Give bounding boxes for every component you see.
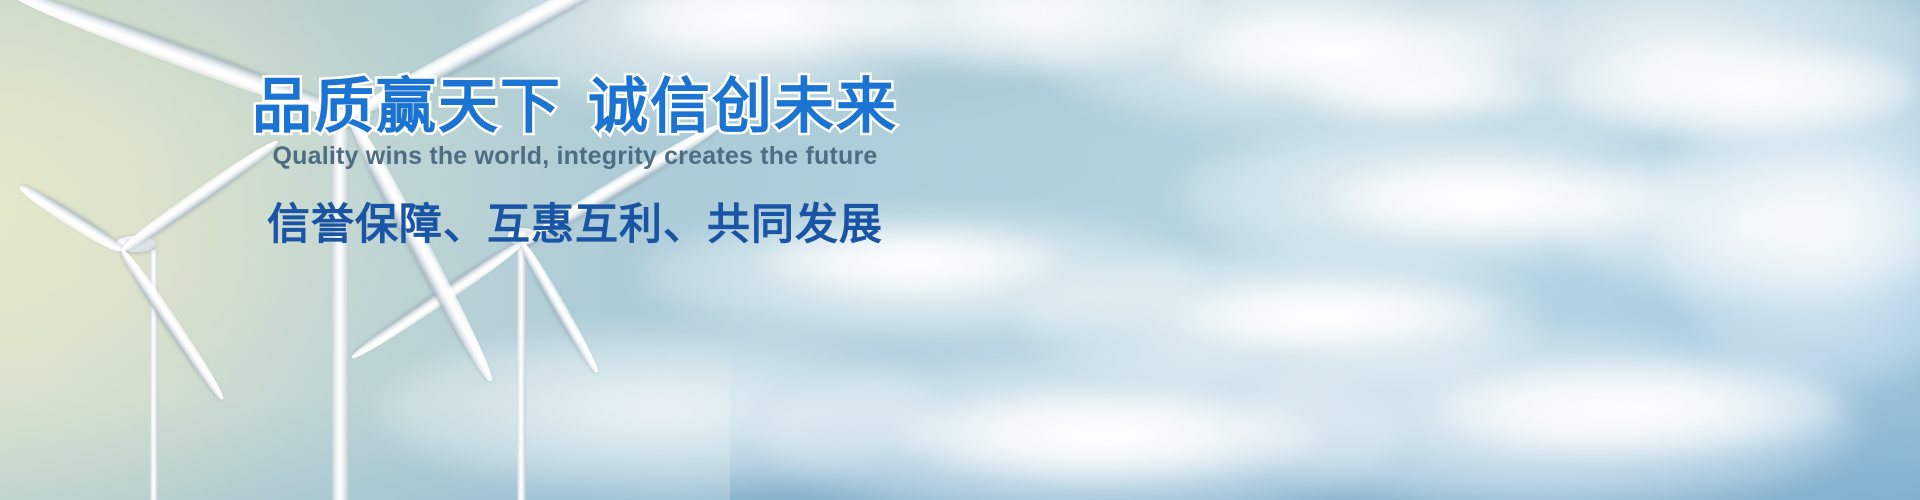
promo-banner: 品质赢天下诚信创未来 Quality wins the world, integ… (0, 0, 1920, 500)
headline-part2: 诚信创未来 (588, 73, 898, 140)
headline-part1: 品质赢天下 (252, 73, 562, 140)
subtitle: Quality wins the world, integrity create… (0, 141, 1150, 171)
banner-text-block: 品质赢天下诚信创未来 Quality wins the world, integ… (0, 0, 1150, 500)
headline: 品质赢天下诚信创未来 (0, 74, 1150, 140)
tagline: 信誉保障、互惠互利、共同发展 (0, 200, 1150, 250)
